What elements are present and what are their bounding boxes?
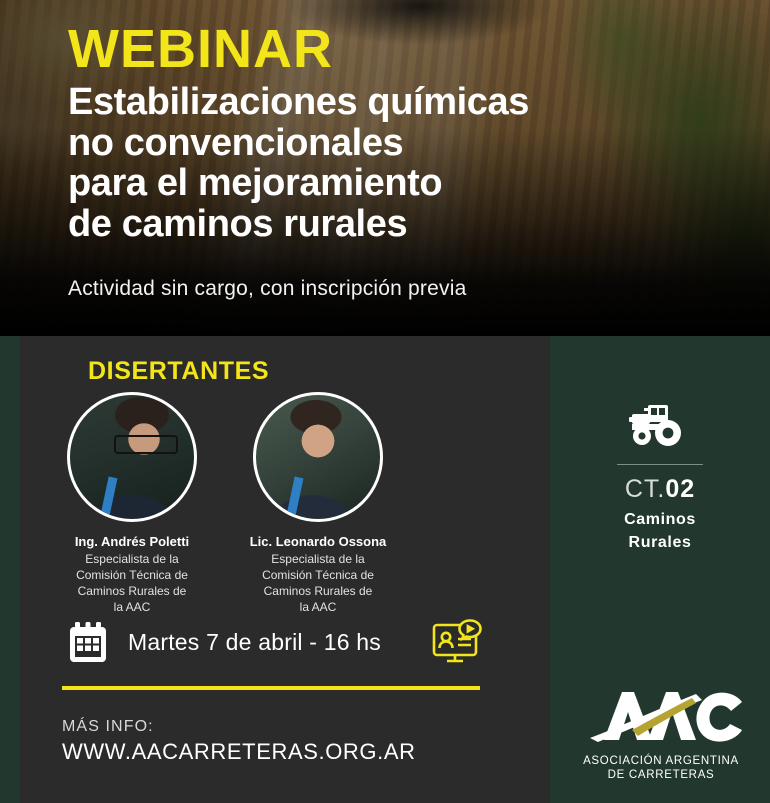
calendar-icon [66, 620, 110, 664]
speaker-role: Especialista de la Comisión Técnica de C… [62, 552, 202, 616]
brand-line-1: ASOCIACIÓN ARGENTINA [566, 755, 756, 767]
yellow-divider [62, 686, 480, 690]
headline-line-2: no convencionales [68, 123, 690, 164]
avatar [67, 392, 197, 522]
headline-line-3: para el mejoramiento [68, 163, 690, 204]
aac-logo-icon [574, 735, 748, 752]
event-date-row: Martes 7 de abril - 16 hs [66, 620, 381, 664]
commission-name: Caminos Rurales [550, 508, 770, 554]
commission-block: CT.02 Caminos Rurales [550, 400, 770, 554]
avatar [253, 392, 383, 522]
lanyard-accent [286, 477, 304, 522]
tractor-icon [624, 439, 696, 456]
hero-banner: WEBINAR Estabilizaciones químicas no con… [0, 0, 770, 336]
headline-line-1: Estabilizaciones químicas [68, 82, 690, 123]
kicker-webinar: WEBINAR [68, 22, 690, 76]
speakers-list: Ing. Andrés Poletti Especialista de la C… [62, 392, 402, 616]
hero-text-block: WEBINAR Estabilizaciones químicas no con… [68, 22, 690, 245]
speakers-heading: DISERTANTES [88, 357, 269, 386]
more-info-label: MÁS INFO: [62, 718, 416, 736]
aac-logo-block: ASOCIACIÓN ARGENTINA DE CARRETERAS [566, 686, 756, 784]
commission-rule [617, 464, 703, 465]
speaker-role: Especialista de la Comisión Técnica de C… [248, 552, 388, 616]
webinar-monitor-icon [428, 614, 490, 676]
brand-line-2: DE CARRETERAS [566, 767, 756, 784]
more-info-block: MÁS INFO: WWW.AACARRETERAS.ORG.AR [62, 718, 416, 765]
commission-code-prefix: CT. [625, 475, 666, 503]
webinar-flyer: WEBINAR Estabilizaciones químicas no con… [0, 0, 770, 803]
commission-code-number: 02 [665, 475, 695, 503]
speaker-card: Ing. Andrés Poletti Especialista de la C… [62, 392, 202, 616]
speaker-card: Lic. Leonardo Ossona Especialista de la … [248, 392, 388, 616]
headline: Estabilizaciones químicas no convenciona… [68, 82, 690, 245]
commission-name-line-1: Caminos [550, 508, 770, 531]
left-green-strip [0, 336, 20, 803]
event-date-text: Martes 7 de abril - 16 hs [128, 629, 381, 656]
headline-line-4: de caminos rurales [68, 204, 690, 245]
lanyard-accent [100, 477, 118, 522]
commission-name-line-2: Rurales [550, 531, 770, 554]
speaker-name: Ing. Andrés Poletti [62, 534, 202, 550]
commission-code: CT.02 [550, 477, 770, 502]
website-url[interactable]: WWW.AACARRETERAS.ORG.AR [62, 739, 416, 765]
subheadline: Actividad sin cargo, con inscripción pre… [68, 277, 466, 301]
speaker-name: Lic. Leonardo Ossona [248, 534, 388, 550]
